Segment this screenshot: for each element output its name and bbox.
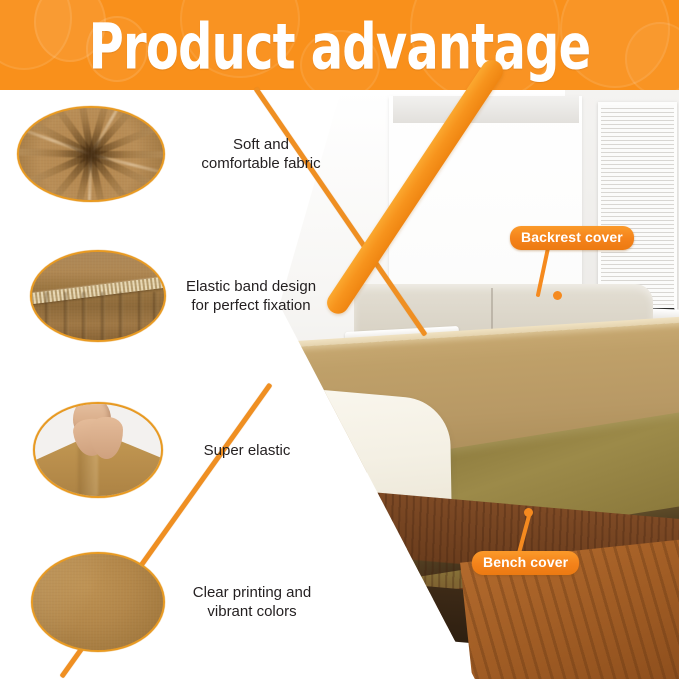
feature-item-super-elastic[interactable]: Super elastic [33,402,317,498]
feature-label-super-elastic: Super elastic [177,441,317,460]
feature-item-elastic-band[interactable]: Elastic band design for perfect fixation [30,250,326,342]
thumbnail-flat-fabric [31,552,165,652]
feature-item-clear-printing[interactable]: Clear printing and vibrant colors [31,552,327,652]
page-title: Product advantage [68,8,611,86]
header-banner: Product advantage [0,0,679,90]
feature-label-soft-fabric: Soft and comfortable fabric [187,135,335,173]
thumbnail-elastic-band [30,250,166,342]
thumbnail-hand-stretching [33,402,163,498]
window-blinds [598,102,677,314]
infographic-canvas: Product advantage [0,0,679,679]
feature-label-elastic-band: Elastic band design for perfect fixation [176,277,326,315]
callout-bench-cover[interactable]: Bench cover [472,551,579,575]
feature-list: Soft and comfortable fabric Elastic ba [0,90,340,679]
backrest-pointer-dot [553,291,562,300]
feature-label-clear-printing: Clear printing and vibrant colors [177,583,327,621]
fabric-texture-overlay [19,108,163,200]
thumbnail-swirled-fabric [17,106,165,202]
feature-item-soft-fabric[interactable]: Soft and comfortable fabric [17,106,335,202]
bench-pointer-dot [524,508,533,517]
fabric-texture-overlay [33,554,163,650]
fabric-texture-overlay [32,252,164,340]
callout-backrest-cover[interactable]: Backrest cover [510,226,634,250]
stretch-fabric-graphic [35,404,161,496]
